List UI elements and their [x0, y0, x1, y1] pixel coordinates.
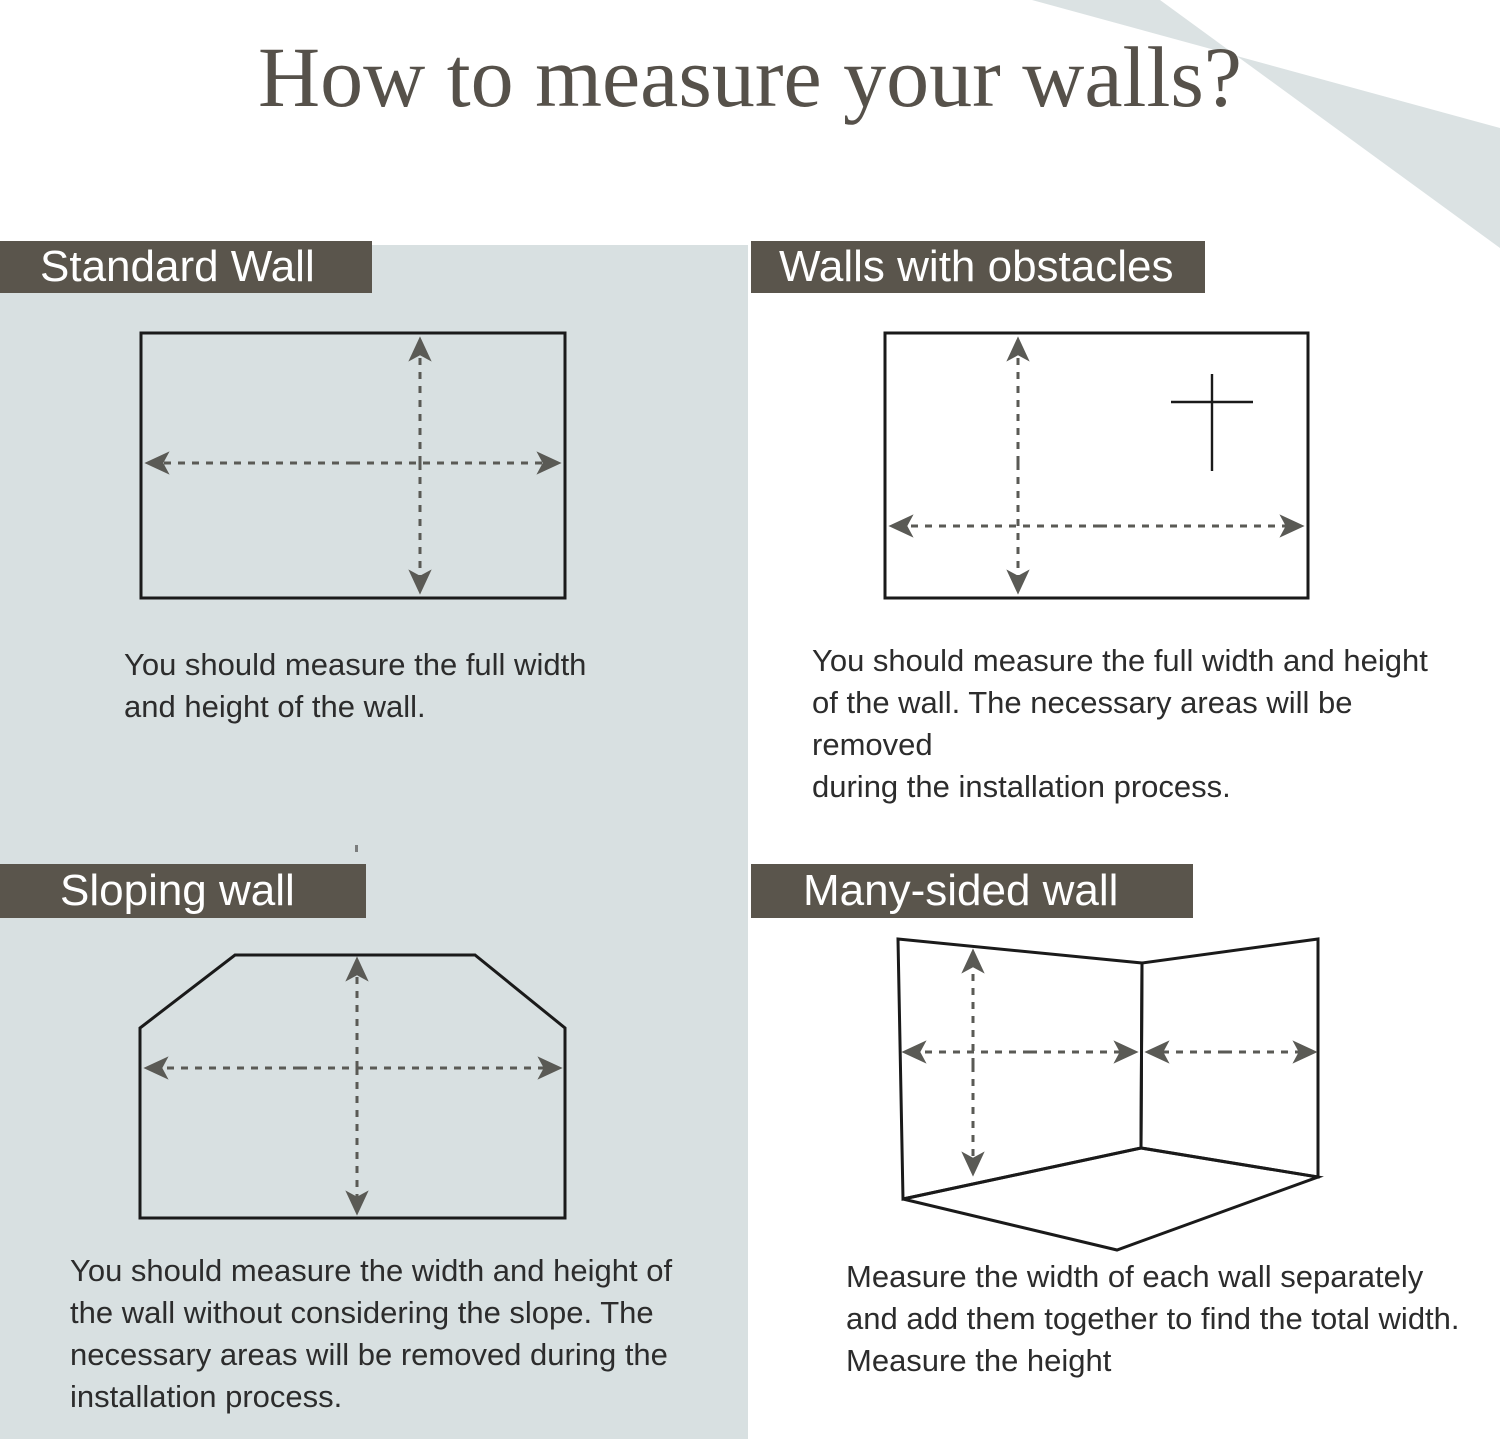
section-heading-label: Walls with obstacles	[779, 245, 1174, 289]
section-heading-sloping-wall: Sloping wall	[0, 864, 366, 918]
floor-face	[903, 1148, 1318, 1250]
section-heading-label: Standard Wall	[40, 245, 315, 289]
left-wall-face	[898, 939, 1142, 1199]
wall-outline	[141, 333, 565, 598]
sloping-wall-diagram	[120, 930, 600, 1250]
wall-outline	[140, 955, 565, 1218]
stray-mark	[355, 845, 358, 852]
section-heading-standard-wall: Standard Wall	[0, 241, 372, 293]
caption-walls-with-obstacles: You should measure the full width and he…	[812, 640, 1472, 807]
section-heading-label: Many-sided wall	[803, 869, 1118, 913]
walls-with-obstacles-diagram	[860, 320, 1340, 620]
many-sided-wall-diagram	[870, 915, 1350, 1265]
section-heading-many-sided-wall: Many-sided wall	[751, 864, 1193, 918]
section-heading-walls-with-obstacles: Walls with obstacles	[751, 241, 1205, 293]
right-wall-face	[1141, 939, 1318, 1177]
section-heading-label: Sloping wall	[60, 869, 295, 913]
infographic-canvas: How to measure your walls? Standard Wall…	[0, 0, 1500, 1439]
caption-standard-wall: You should measure the full width and he…	[124, 644, 684, 728]
caption-sloping-wall: You should measure the width and height …	[70, 1250, 690, 1417]
standard-wall-diagram	[120, 320, 600, 620]
caption-many-sided-wall: Measure the width of each wall separatel…	[846, 1256, 1466, 1382]
page-title: How to measure your walls?	[0, 32, 1500, 122]
window-icon	[1171, 374, 1253, 471]
